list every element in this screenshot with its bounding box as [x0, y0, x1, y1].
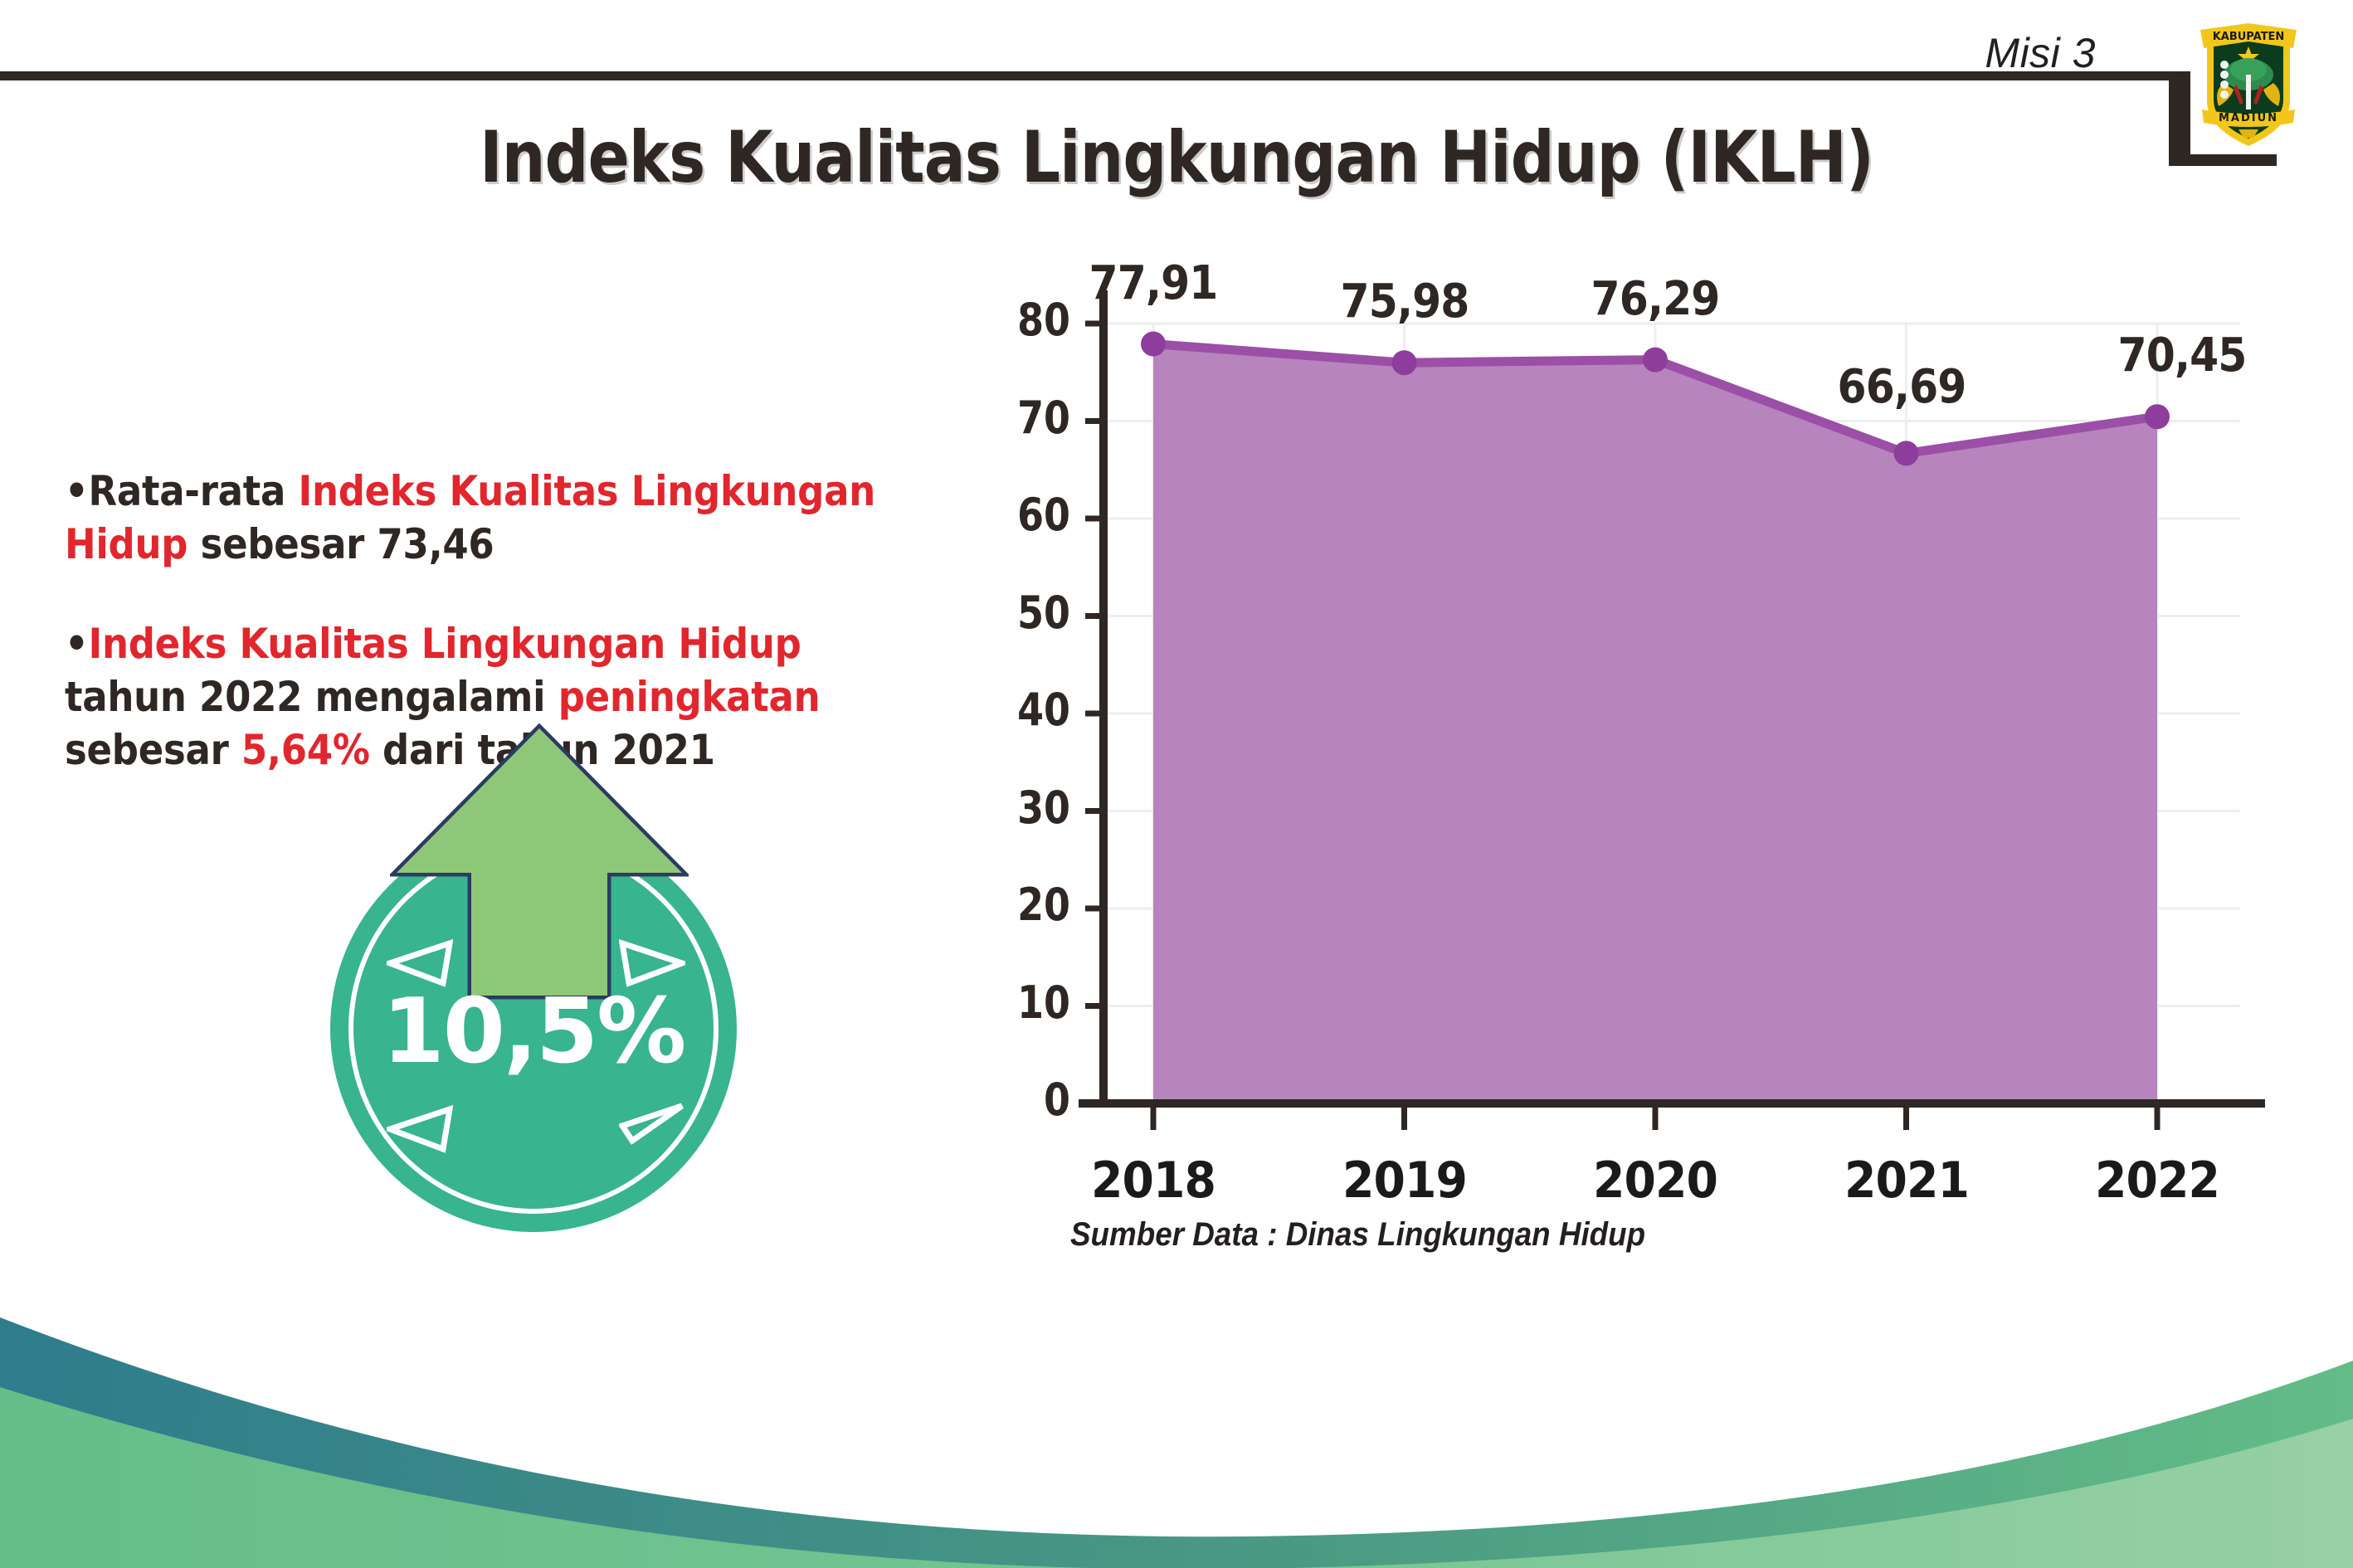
y-tick-label-30: 30 — [993, 782, 1071, 834]
chart-canvas — [979, 274, 2273, 1203]
data-label-2022: 70,45 — [2063, 329, 2302, 382]
kabupaten-madiun-logo: KABUPATEN MADIUN — [2190, 12, 2307, 153]
bullet-item-average: •Rata-rata Indeks Kualitas Lingkungan Hi… — [65, 465, 901, 571]
bullet-1-span-3: peningkatan — [558, 673, 821, 721]
x-tick-label-2018: 2018 — [1031, 1152, 1275, 1210]
x-tick-label-2020: 2020 — [1533, 1152, 1777, 1210]
y-tick-label-70: 70 — [993, 392, 1071, 444]
bullet-0-span-2: sebesar 73,46 — [188, 520, 494, 568]
source-note: Sumber Data : Dinas Lingkungan Hidup — [1070, 1216, 1645, 1254]
header-divider-line — [0, 71, 2170, 80]
y-tick-label-10: 10 — [993, 976, 1071, 1029]
bullet-1-span-0: • — [65, 620, 89, 668]
page-title: Indeks Kualitas Lingkungan Hidup (IKLH) — [165, 116, 2189, 199]
badge-value: 10,5% — [330, 980, 737, 1083]
bullet-1-span-4: sebesar — [65, 726, 241, 774]
infographic-slide: Misi 3 KABUPATEN MADIUN Indeks Kualitas — [0, 0, 2353, 1568]
area-fill — [1153, 344, 2157, 1103]
data-label-2021: 66,69 — [1782, 360, 2021, 414]
x-tick-label-2022: 2022 — [2035, 1152, 2279, 1210]
data-label-2018: 77,91 — [1034, 256, 1273, 310]
data-label-2020: 76,29 — [1536, 272, 1775, 326]
x-tick-label-2019: 2019 — [1282, 1152, 1526, 1210]
x-tick-label-2021: 2021 — [1784, 1152, 2028, 1210]
y-tick-label-20: 20 — [993, 879, 1071, 931]
iklh-area-chart: 01020304050607080 20182019202020212022 7… — [979, 274, 2273, 1203]
y-tick-label-0: 0 — [993, 1074, 1071, 1126]
footer-wave: Media Infografis Data Statistik Sektoral… — [0, 1294, 2353, 1568]
data-label-2019: 75,98 — [1285, 275, 1524, 329]
bullet-1-span-2: tahun 2022 mengalami — [65, 673, 558, 721]
y-tick-label-60: 60 — [993, 489, 1071, 541]
logo-bottom-text: MADIUN — [2219, 112, 2278, 124]
y-tick-label-40: 40 — [993, 684, 1071, 736]
badge-arrow-marker-bottom-right — [619, 1089, 685, 1147]
growth-badge: 10,5% — [330, 825, 737, 1232]
logo-top-text: KABUPATEN — [2213, 31, 2285, 43]
misi-label: Misi 3 — [1985, 29, 2096, 77]
bullet-1-span-5: 5,64% — [241, 726, 370, 774]
bullet-1-span-1: Indeks Kualitas Lingkungan Hidup — [89, 620, 801, 668]
y-tick-label-50: 50 — [993, 587, 1071, 639]
badge-arrow-marker-bottom-left — [387, 1099, 453, 1157]
bullet-0-span-0: •Rata-rata — [65, 467, 298, 515]
